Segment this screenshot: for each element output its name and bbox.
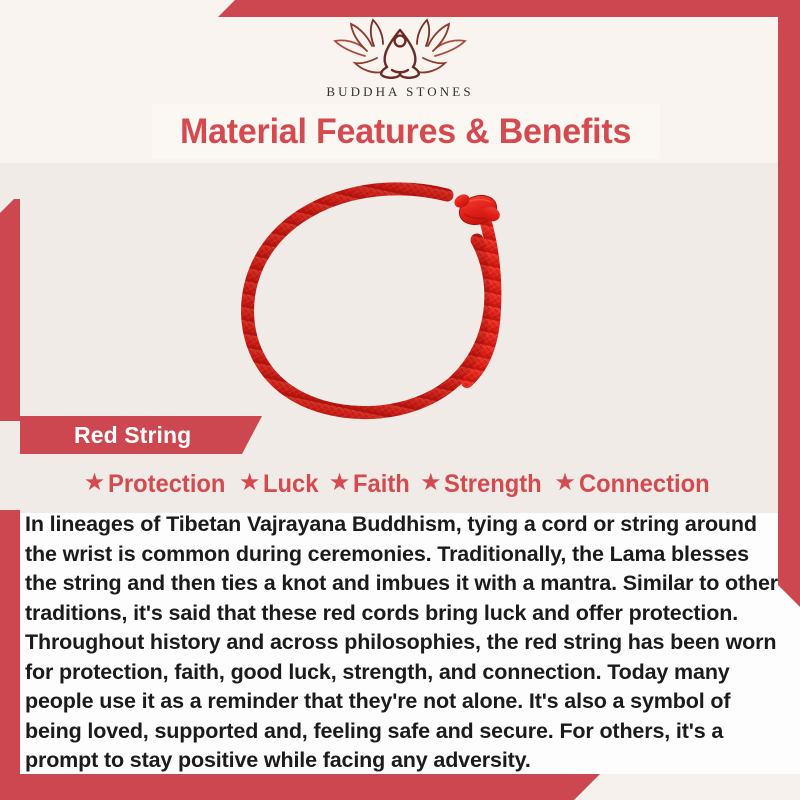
benefit-label: Strength	[444, 470, 542, 499]
product-image	[215, 168, 605, 430]
benefit-item: ★ Protection	[84, 470, 232, 499]
brand-logo: BUDDHA STONES	[0, 18, 800, 100]
benefit-item: ★ Connection	[554, 470, 716, 499]
benefits-list: ★ Protection ★ Luck ★ Faith ★ Strength ★…	[20, 464, 780, 504]
star-icon: ★	[554, 471, 576, 495]
benefit-item: ★ Faith	[329, 470, 413, 499]
decorative-bar-left-lower	[0, 510, 20, 800]
decorative-bar-top-right	[218, 0, 800, 17]
product-name-ribbon: Red String	[20, 416, 262, 454]
title-banner: Material Features & Benefits	[152, 104, 660, 159]
benefit-label: Luck	[263, 470, 318, 499]
benefit-label: Connection	[579, 470, 710, 499]
benefit-item: ★ Strength	[420, 470, 547, 499]
benefit-item: ★ Luck	[239, 470, 322, 499]
lotus-meditation-icon	[329, 18, 471, 80]
star-icon: ★	[84, 471, 106, 495]
benefit-label: Protection	[108, 470, 225, 499]
description-paragraph: In lineages of Tibetan Vajrayana Buddhis…	[25, 510, 780, 776]
brand-name: BUDDHA STONES	[326, 84, 473, 100]
decorative-bar-bottom	[0, 774, 600, 800]
decorative-bar-left	[0, 199, 20, 421]
product-name-label: Red String	[74, 422, 191, 449]
star-icon: ★	[239, 471, 261, 495]
infographic-page: BUDDHA STONES Material Features & Benefi…	[0, 0, 800, 800]
star-icon: ★	[329, 471, 351, 495]
star-icon: ★	[420, 471, 442, 495]
benefit-label: Faith	[353, 470, 410, 499]
page-title: Material Features & Benefits	[180, 112, 631, 152]
